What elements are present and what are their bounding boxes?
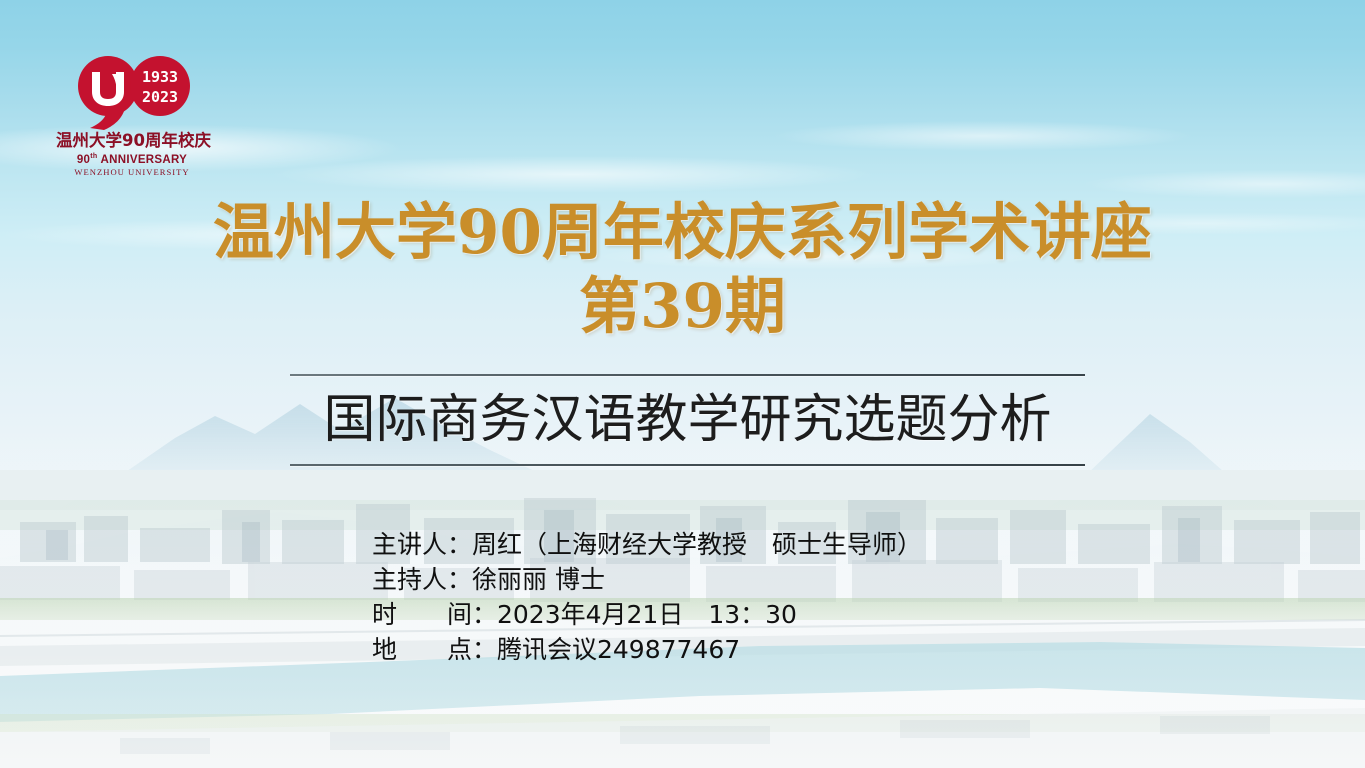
detail-host: 主持人：徐丽丽 博士 [372,562,922,597]
logo-chinese-text: 温州大学90周年校庆 [56,132,208,150]
lecture-topic-block: 国际商务汉语教学研究选题分析 [290,374,1085,466]
lecture-series-headline: 温州大学90周年校庆系列学术讲座 第39期 [0,196,1365,344]
headline-line-2: 第39期 [0,270,1365,344]
headline-line-1: 温州大学90周年校庆系列学术讲座 [0,196,1365,270]
presentation-slide: 1933 2023 温州大学90周年校庆 90th ANNIVERSARY WE… [0,0,1365,768]
lecture-details: 主讲人：周红（上海财经大学教授 硕士生导师） 主持人：徐丽丽 博士 时 间：20… [372,527,922,667]
anniversary-emblem-icon: 1933 2023 [56,52,208,130]
university-anniversary-logo: 1933 2023 温州大学90周年校庆 90th ANNIVERSARY WE… [56,52,208,174]
logo-university-text: WENZHOU UNIVERSITY [56,167,208,178]
logo-anniversary-text: 90th ANNIVERSARY [56,150,208,167]
lecture-topic-title: 国际商务汉语教学研究选题分析 [290,376,1085,464]
detail-time: 时 间：2023年4月21日 13：30 [372,597,922,632]
topic-rule-bottom [290,464,1085,466]
detail-place: 地 点：腾讯会议249877467 [372,632,922,667]
detail-speaker: 主讲人：周红（上海财经大学教授 硕士生导师） [372,527,922,562]
